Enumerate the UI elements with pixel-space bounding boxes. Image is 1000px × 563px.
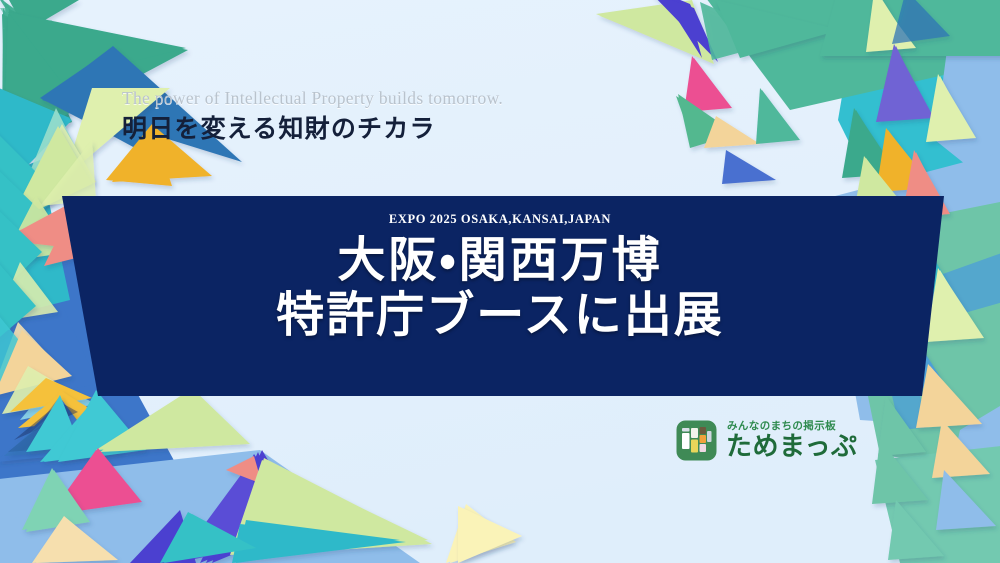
navy-banner: EXPO 2025 OSAKA,KANSAI,JAPAN 大阪・関西万博 特許庁… xyxy=(0,196,1000,396)
banner-title-line-1: 大阪・関西万博 xyxy=(337,232,662,288)
banner-title: 大阪・関西万博 特許庁ブースに出展 xyxy=(276,233,724,343)
logo-brand-name: ためまっぷ xyxy=(726,434,857,460)
bulletin-board-grid-icon xyxy=(676,420,717,461)
logo-tagline: みんなのまちの掲示板 xyxy=(727,421,857,432)
poster-canvas: The power of Intellectual Property build… xyxy=(0,0,1000,563)
tamemap-logo[interactable]: みんなのまちの掲示板 ためまっぷ xyxy=(676,420,857,461)
logo-text-group: みんなのまちの掲示板 ためまっぷ xyxy=(726,421,857,461)
banner-kicker: EXPO 2025 OSAKA,KANSAI,JAPAN xyxy=(389,212,611,227)
banner-title-line-2: 特許庁ブースに出展 xyxy=(276,288,724,343)
headline-japanese: 明日を変える知財のチカラ xyxy=(122,113,682,144)
headline-eyebrow: The power of Intellectual Property build… xyxy=(122,88,682,109)
headline-block: The power of Intellectual Property build… xyxy=(122,88,682,144)
